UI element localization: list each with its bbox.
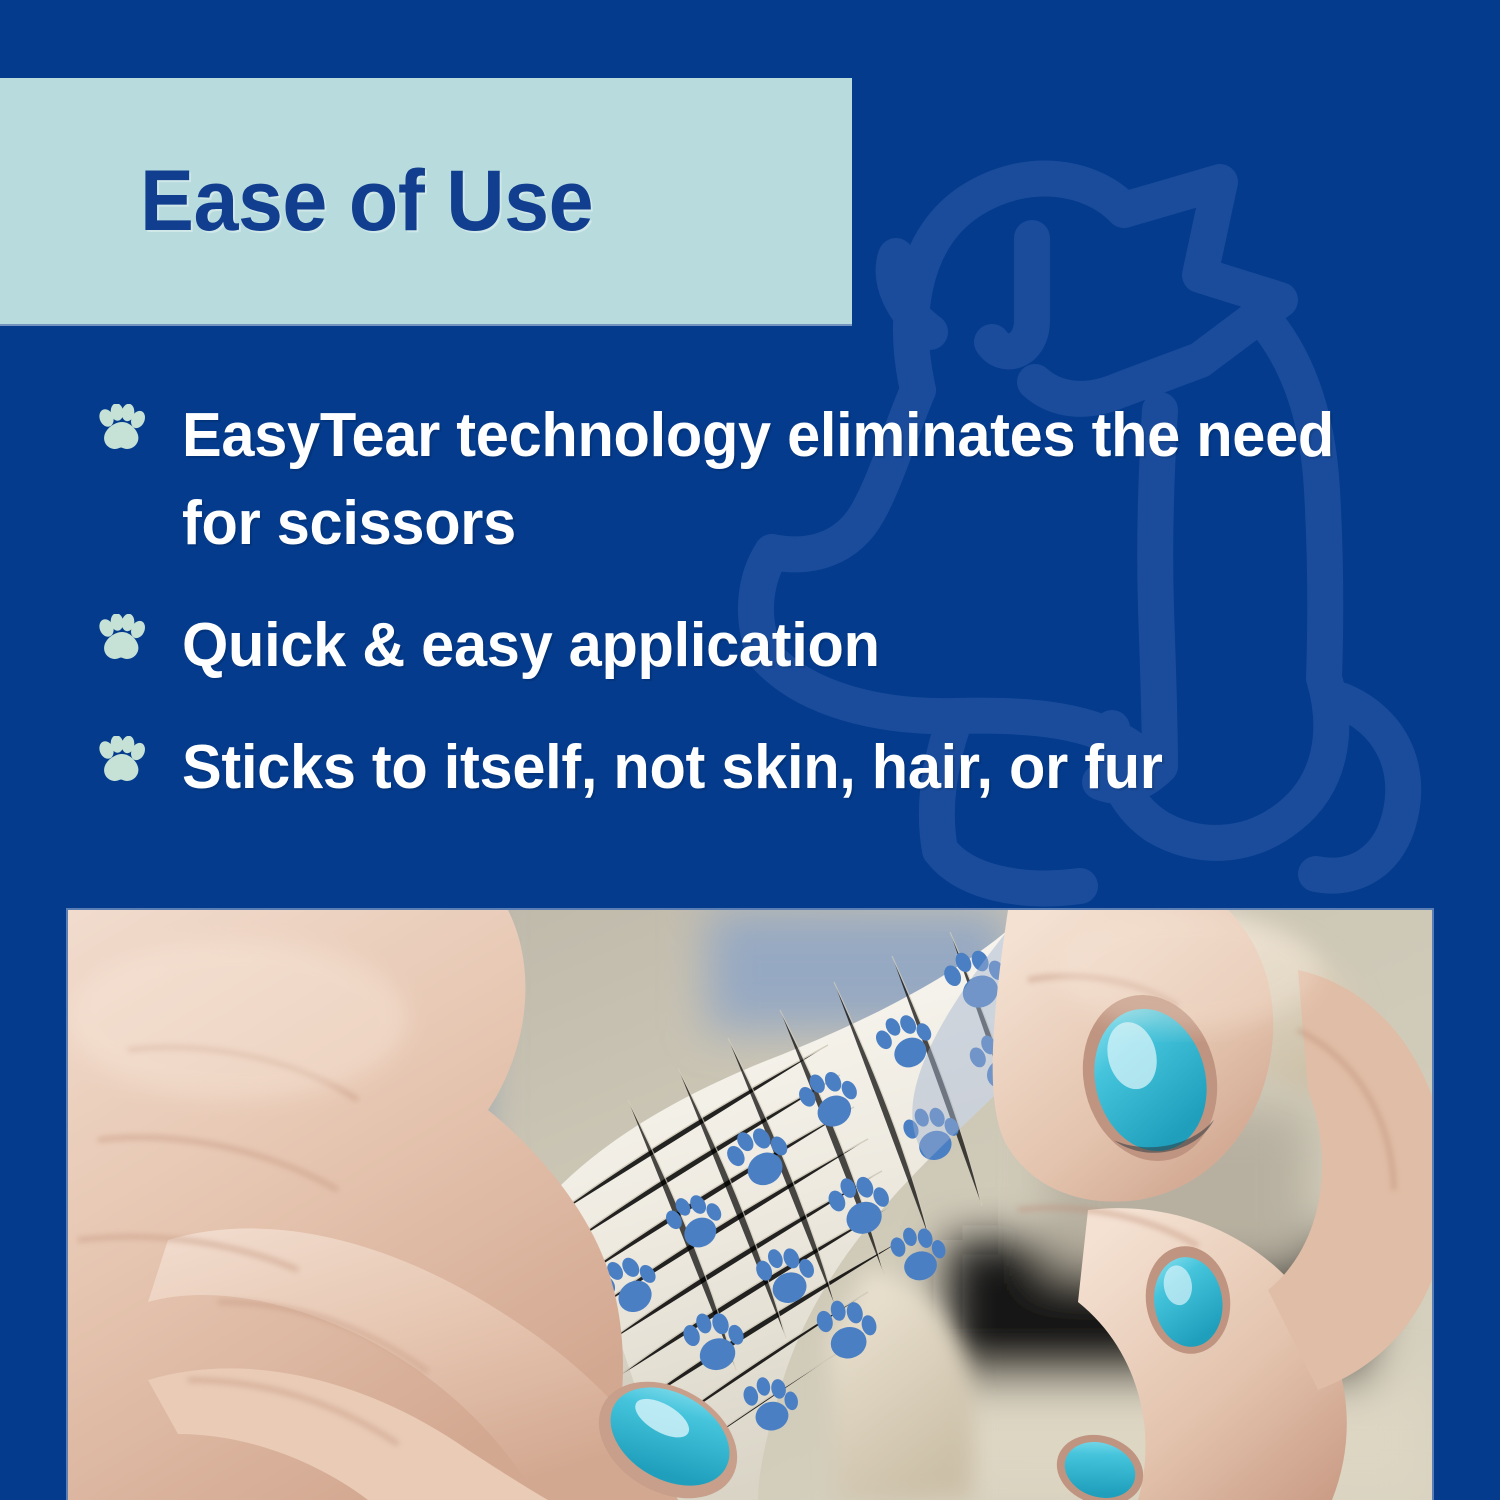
paw-print-icon [96, 404, 146, 452]
hands-tearing-paw-print-bandage-photo [68, 910, 1432, 1500]
section-header-banner: Ease of Use [0, 78, 852, 324]
list-item-label: Sticks to itself, not skin, hair, or fur [182, 724, 1163, 812]
list-item-label: EasyTear technology eliminates the need … [182, 392, 1363, 568]
paw-print-icon [96, 736, 146, 784]
infographic-canvas: Ease of Use EasyTear technology eliminat… [0, 0, 1500, 1500]
feature-bullet-list: EasyTear technology eliminates the need … [96, 392, 1436, 812]
list-item: Quick & easy application [96, 602, 1436, 690]
list-item: Sticks to itself, not skin, hair, or fur [96, 724, 1436, 812]
list-item-label: Quick & easy application [182, 602, 880, 690]
page-title: Ease of Use [140, 158, 593, 244]
paw-print-icon [96, 614, 146, 662]
list-item: EasyTear technology eliminates the need … [96, 392, 1436, 568]
